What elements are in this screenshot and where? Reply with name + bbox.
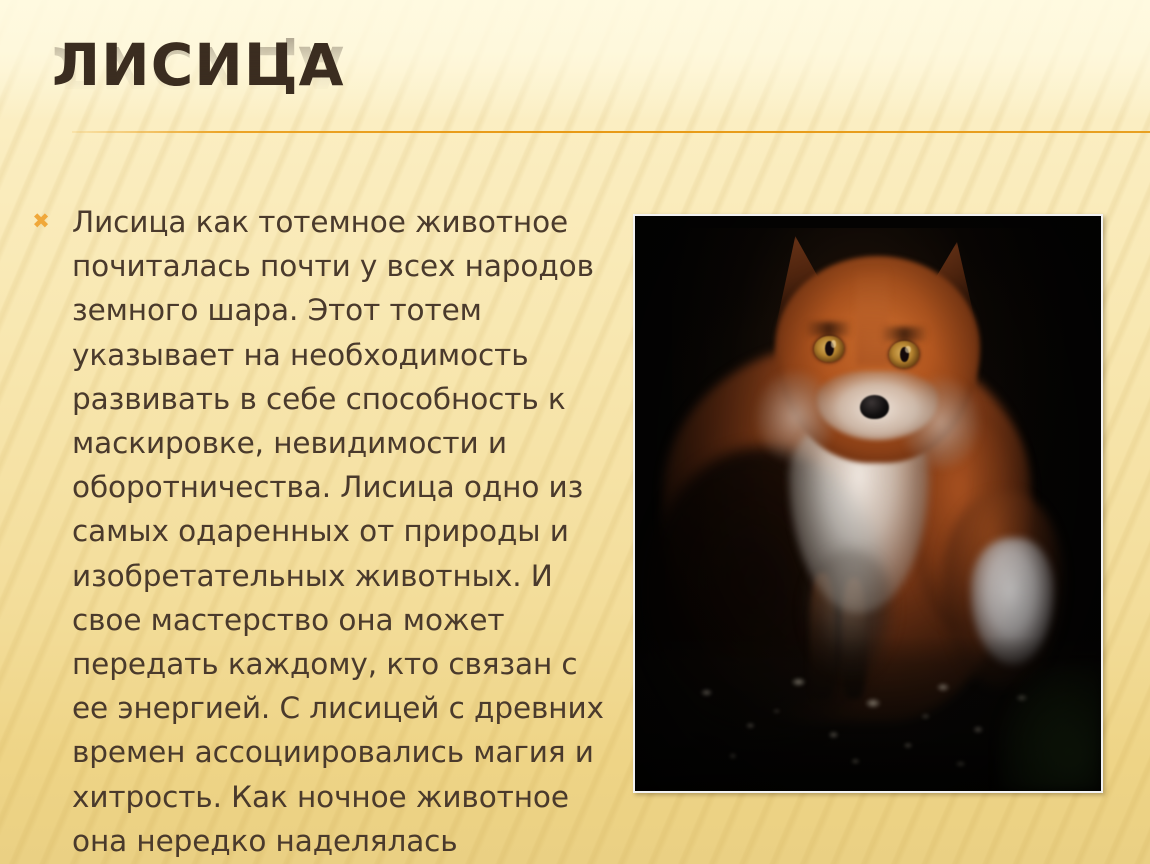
fox-photo-frame xyxy=(633,214,1103,793)
fox-brow-right xyxy=(881,327,928,341)
fox-eye-right xyxy=(889,341,919,367)
content-body: ✖ Лисица как тотемное животное почиталас… xyxy=(0,200,620,840)
page-title-reflection: ЛИСИЦА xyxy=(52,38,752,96)
slide: ЛИСИЦА ЛИСИЦА ✖ Лисица как тотемное живо… xyxy=(0,0,1150,864)
fox-photo-image xyxy=(635,216,1101,791)
bullet-list-item: ✖ Лисица как тотемное животное почиталас… xyxy=(0,200,620,864)
bullet-paragraph-text: Лисица как тотемное животное почиталась … xyxy=(72,205,604,864)
fox-eye-left xyxy=(814,336,844,362)
cross-bullet-icon: ✖ xyxy=(31,211,51,231)
fox-nose xyxy=(860,395,889,419)
fox-forehead-stripe xyxy=(856,268,889,366)
fox-brow-left xyxy=(805,322,852,336)
fox-eye-glint-right xyxy=(905,346,911,354)
fox-eye-glint-left xyxy=(831,340,837,348)
slide-title-block: ЛИСИЦА ЛИСИЦА xyxy=(52,36,752,136)
photo-grass-patch xyxy=(998,665,1101,792)
title-underline-rule xyxy=(72,131,1150,133)
